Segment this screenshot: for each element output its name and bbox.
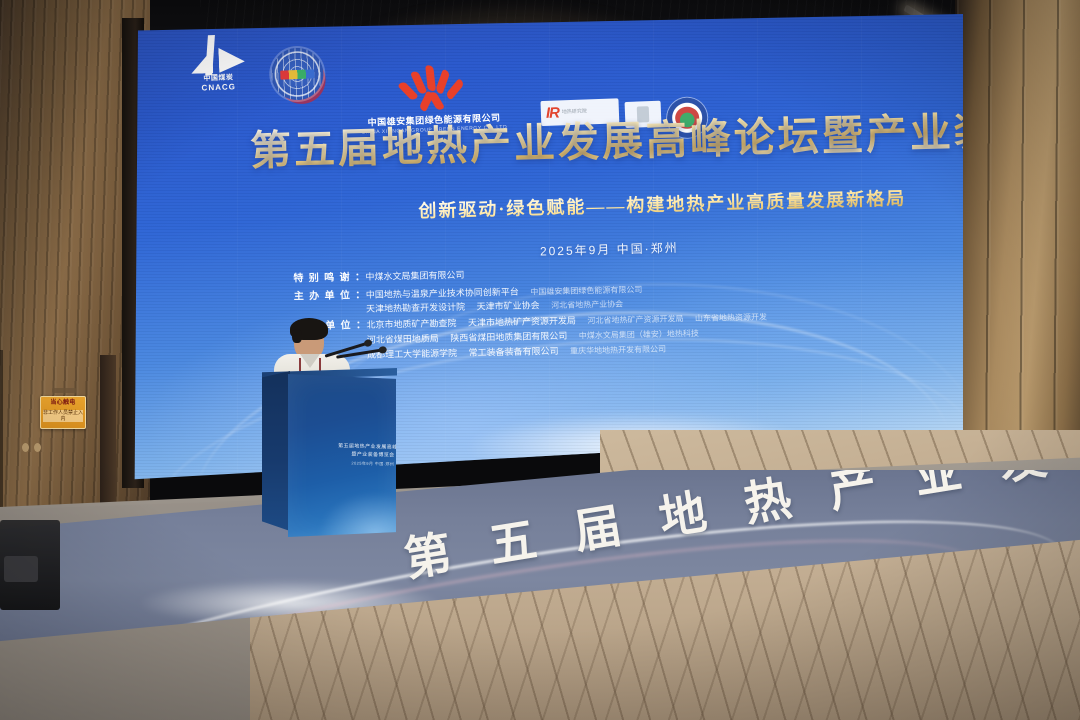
podium: 第五届地热产业发展高峰论坛 暨产业装备博览会 2025年9月 中国·郑州	[262, 368, 414, 540]
credit-item: 重庆华地地热开发有限公司	[570, 345, 666, 356]
stage-equipment-box	[4, 556, 38, 582]
cnacg-logo-en: CNACG	[188, 81, 250, 92]
credit-item: 陕西省煤田地质集团有限公司	[450, 331, 567, 343]
podium-side-panel	[262, 371, 290, 531]
door-handle[interactable]	[34, 443, 41, 452]
credit-item: 中煤水文局集团（雄安）地热科技	[579, 329, 699, 341]
cgeit-globe-logo	[270, 47, 324, 101]
conference-stage-scene: 当心触电 非工作人员禁止入内 中国煤炭 CNACG	[0, 0, 1080, 720]
credit-item: 河北省煤田地质局	[367, 333, 439, 345]
credit-item: 中煤水文局集团有限公司	[365, 270, 464, 282]
podium-front-panel: 第五届地热产业发展高峰论坛 暨产业装备博览会 2025年9月 中国·郑州	[288, 374, 396, 537]
podium-title-line-2: 暨产业装备博览会	[336, 451, 410, 460]
event-dateline: 2025年9月 中国·郑州	[540, 239, 679, 260]
led-backdrop-screen: 中国煤炭 CNACG 中国雄安集团绿色能源有限公司 CHINA XION	[133, 14, 963, 484]
event-subtitle: 创新驱动·绿色赋能——构建地热产业高质量发展新格局	[418, 184, 907, 223]
cnacg-sail-right-icon	[218, 47, 245, 73]
podium-branding-text: 第五届地热产业发展高峰论坛 暨产业装备博览会 2025年9月 中国·郑州	[336, 443, 411, 468]
cnacg-logo: 中国煤炭 CNACG	[186, 34, 250, 93]
wall-warning-sign: 当心触电 非工作人员禁止入内	[40, 396, 86, 429]
credit-item: 天津地热勘查开发设计院	[366, 302, 465, 314]
credit-item: 天津市地热矿产资源开发局	[468, 316, 576, 328]
speaker-hair	[290, 318, 328, 340]
podium-dateline: 2025年9月 中国·郑州	[336, 460, 410, 468]
credit-item: 中国雄安集团绿色能源有限公司	[530, 285, 642, 296]
credit-item: 天津市矿业协会	[477, 301, 540, 312]
cnacg-sail-icon	[190, 34, 245, 76]
credit-item: 常工装备装备有限公司	[468, 346, 558, 358]
credit-label: 特别鸣谢：	[293, 270, 365, 288]
sign-bracket	[52, 388, 76, 393]
warning-sign-line-2: 非工作人员禁止入内	[43, 410, 83, 422]
door-handle[interactable]	[22, 443, 29, 452]
credit-item: 北京市地质矿产勘查院	[366, 318, 456, 330]
door-frame	[100, 355, 116, 505]
credit-item: 河北省地热矿产资源开发局	[587, 314, 683, 325]
credit-item: 河北省地热产业协会	[551, 300, 623, 311]
flame-icon	[400, 64, 466, 112]
color-bar-icon	[280, 69, 314, 79]
credit-item: 山东省地热资源开发	[695, 313, 767, 324]
credit-label: 主办单位：	[294, 287, 366, 305]
podium-light-glow	[318, 492, 422, 544]
led-screen-content: 中国煤炭 CNACG 中国雄安集团绿色能源有限公司 CHINA XION	[133, 14, 963, 484]
globe-icon	[270, 47, 324, 101]
warning-sign-line-1: 当心触电	[43, 400, 83, 408]
credit-item: 中国地热与温泉产业技术协同创新平台	[366, 286, 519, 299]
